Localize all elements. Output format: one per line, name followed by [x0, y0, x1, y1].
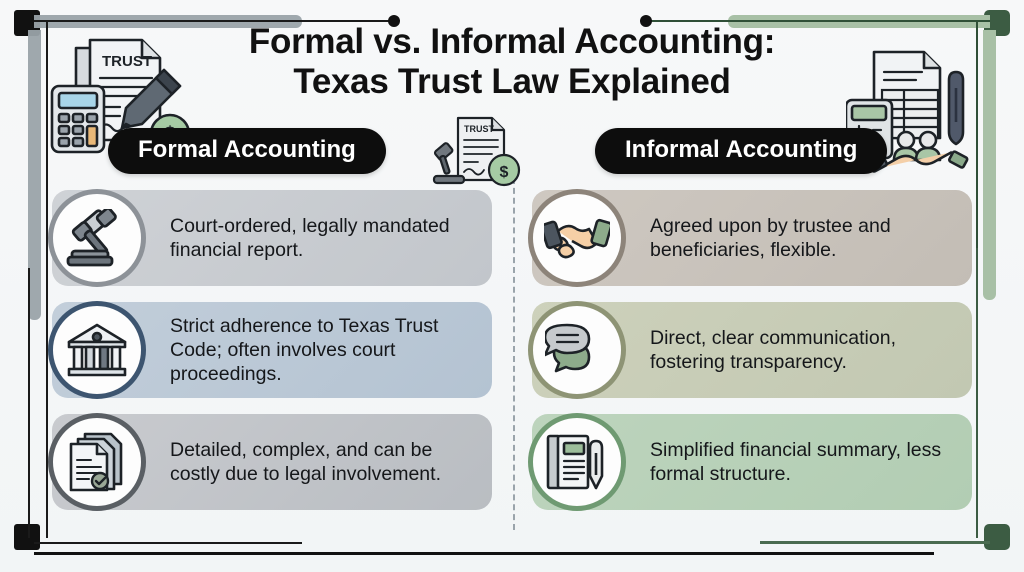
card-informal-3-text: Simplified financial summary, less forma… [650, 438, 958, 486]
infographic-canvas: TRUST [0, 0, 1024, 572]
frame-line-top-left-horizontal [34, 20, 394, 22]
frame-line-top-right-horizontal [650, 20, 990, 22]
documents-check-icon [48, 413, 146, 511]
badge-informal-accounting: Informal Accounting [595, 128, 887, 174]
card-formal-3-text: Detailed, complex, and can be costly due… [170, 438, 478, 486]
svg-text:TRUST: TRUST [464, 124, 494, 134]
column-divider [513, 178, 515, 530]
card-formal-1-text: Court-ordered, legally mandated financia… [170, 214, 478, 262]
frame-line-bottom-left-vertical-outer [28, 268, 30, 538]
informal-accounting-column: Agreed upon by trustee and beneficiaries… [532, 190, 972, 526]
card-informal-2: Direct, clear communication, fostering t… [532, 302, 972, 398]
formal-accounting-column: Court-ordered, legally mandated financia… [52, 190, 492, 526]
notebook-pen-icon [528, 413, 626, 511]
card-formal-2: Strict adherence to Texas Trust Code; of… [52, 302, 492, 398]
frame-dot-top-right [640, 15, 652, 27]
svg-text:TRUST: TRUST [102, 53, 152, 70]
corner-anchor-bottom-right [984, 524, 1010, 550]
card-informal-2-text: Direct, clear communication, fostering t… [650, 326, 958, 374]
page-title-line-1: Formal vs. Informal Accounting: [249, 22, 775, 61]
corner-anchor-bottom-left [14, 524, 40, 550]
svg-text:$: $ [500, 164, 509, 181]
frame-line-bottom-baseline [34, 552, 934, 555]
frame-line-bottom-left-vertical [46, 238, 48, 538]
trust-gavel-illustration: TRUST $ [432, 112, 524, 197]
card-formal-2-text: Strict adherence to Texas Trust Code; of… [170, 314, 478, 387]
speech-bubbles-icon [528, 301, 626, 399]
card-formal-3: Detailed, complex, and can be costly due… [52, 414, 492, 510]
frame-dot-top-left [388, 15, 400, 27]
badge-formal-accounting: Formal Accounting [108, 128, 386, 174]
card-formal-1: Court-ordered, legally mandated financia… [52, 190, 492, 286]
card-informal-1-text: Agreed upon by trustee and beneficiaries… [650, 214, 958, 262]
handshake-icon [528, 189, 626, 287]
gavel-icon [48, 189, 146, 287]
frame-line-bottom-right-vertical [976, 248, 978, 538]
frame-line-bottom-left-horizontal [34, 542, 302, 544]
card-informal-1: Agreed upon by trustee and beneficiaries… [532, 190, 972, 286]
card-informal-3: Simplified financial summary, less forma… [532, 414, 972, 510]
courthouse-icon [48, 301, 146, 399]
frame-line-bottom-right-horizontal [760, 541, 990, 544]
